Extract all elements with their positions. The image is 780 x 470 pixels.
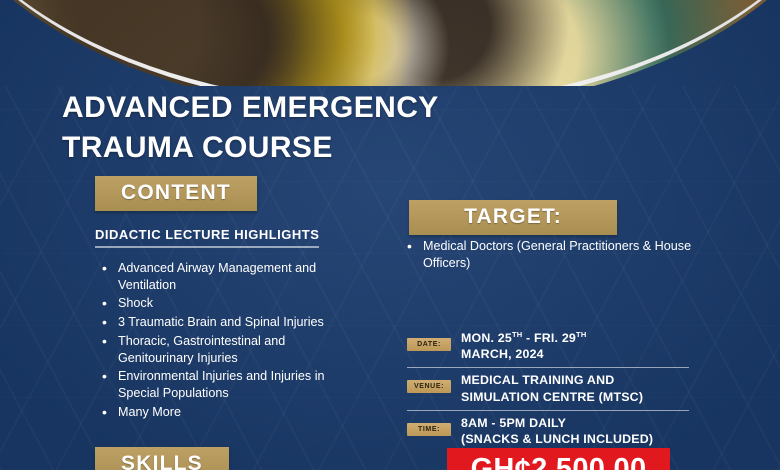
content-ribbon-label: CONTENT [95, 176, 257, 211]
list-item: Shock [100, 295, 340, 312]
content-ribbon: CONTENT [95, 176, 257, 211]
info-row-date: DATE: MON. 25TH - FRI. 29TH MARCH, 2024 [407, 326, 689, 367]
title-line-2: TRAUMA COURSE [62, 128, 602, 168]
date-start-ordinal: TH [512, 330, 522, 339]
content-bullet-list: Advanced Airway Management and Ventilati… [100, 260, 340, 423]
info-row-time: TIME: 8AM - 5PM DAILY (SNACKS & LUNCH IN… [407, 410, 689, 452]
flyer-root: ADVANCED EMERGENCY TRAUMA COURSE CONTENT… [0, 0, 780, 470]
skills-ribbon: SKILLS [95, 447, 229, 470]
date-start: MON. 25 [461, 331, 512, 345]
list-item: Environmental Injuries and Injuries in S… [100, 368, 340, 401]
list-item: Medical Doctors (General Practitioners &… [405, 238, 695, 271]
price-banner: GH¢2,500.00 [447, 448, 670, 470]
date-end: - FRI. 29 [522, 331, 576, 345]
price-amount: GH¢2,500.00 [471, 453, 647, 470]
target-ribbon: TARGET: [409, 200, 617, 235]
venue-value: MEDICAL TRAINING AND SIMULATION CENTRE (… [461, 372, 643, 404]
list-item: Advanced Airway Management and Ventilati… [100, 260, 340, 293]
target-ribbon-label: TARGET: [409, 200, 617, 235]
time-line-2: (SNACKS & LUNCH INCLUDED) [461, 432, 653, 446]
target-bullet-list: Medical Doctors (General Practitioners &… [405, 238, 695, 273]
date-end-ordinal: TH [576, 330, 586, 339]
venue-line-2: SIMULATION CENTRE (MTSC) [461, 390, 643, 404]
event-info-block: DATE: MON. 25TH - FRI. 29TH MARCH, 2024 … [407, 326, 689, 452]
venue-label-pill: VENUE: [407, 380, 451, 393]
date-line-1: MON. 25TH - FRI. 29TH [461, 331, 586, 345]
date-label-pill: DATE: [407, 338, 451, 351]
info-row-venue: VENUE: MEDICAL TRAINING AND SIMULATION C… [407, 367, 689, 409]
list-item: Thoracic, Gastrointestinal and Genitouri… [100, 333, 340, 366]
hero-photo-band [0, 0, 780, 86]
time-line-1: 8AM - 5PM DAILY [461, 416, 566, 430]
date-value: MON. 25TH - FRI. 29TH MARCH, 2024 [461, 330, 586, 362]
venue-line-1: MEDICAL TRAINING AND [461, 373, 614, 387]
content-subheading: DIDACTIC LECTURE HIGHLIGHTS [95, 227, 319, 248]
title-line-1: ADVANCED EMERGENCY [62, 91, 439, 124]
list-item: Many More [100, 404, 340, 421]
date-line-2: MARCH, 2024 [461, 347, 544, 361]
skills-ribbon-label: SKILLS [95, 447, 229, 470]
time-label-pill: TIME: [407, 423, 451, 436]
page-title: ADVANCED EMERGENCY TRAUMA COURSE [62, 88, 602, 168]
list-item: 3 Traumatic Brain and Spinal Injuries [100, 314, 340, 331]
time-value: 8AM - 5PM DAILY (SNACKS & LUNCH INCLUDED… [461, 415, 653, 447]
hero-photo [0, 0, 780, 86]
